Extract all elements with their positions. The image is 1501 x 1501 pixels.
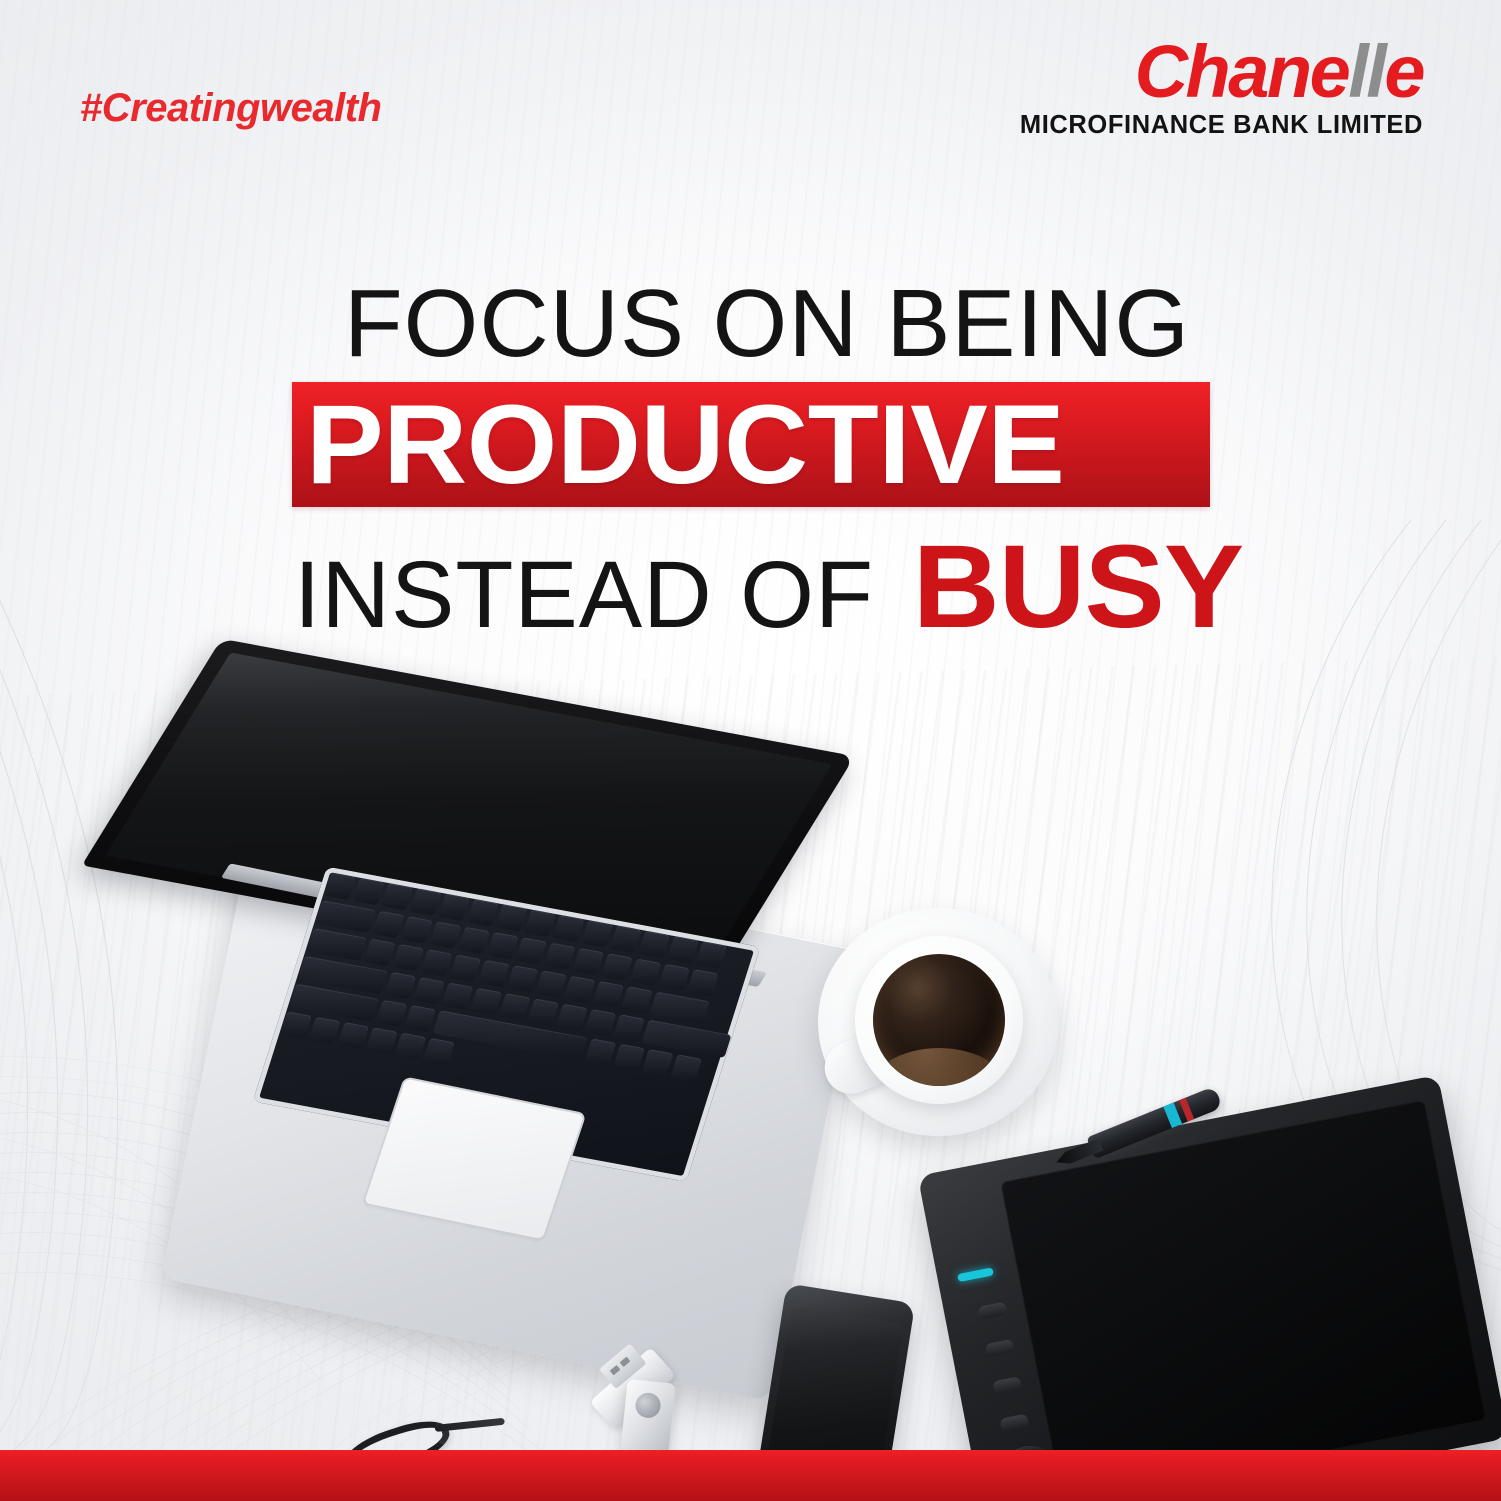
- headline-line-3-light: INSTEAD OF: [294, 541, 874, 650]
- brand-logo: Chanelle MICROFINANCE BANK LIMITED: [1020, 36, 1423, 140]
- headline-line-1: FOCUS ON BEING: [344, 276, 1501, 372]
- logo-wordmark-part2: e: [1384, 30, 1423, 113]
- footer-accent-bar: [0, 1450, 1501, 1501]
- headline-line-3: INSTEAD OF BUSY: [294, 519, 1501, 655]
- graphics-tablet-express-key-1: [978, 1302, 1008, 1320]
- headline-highlight-text: PRODUCTIVE: [306, 380, 1064, 509]
- coffee-liquid: [873, 954, 1005, 1086]
- graphics-tablet-express-key-3: [992, 1376, 1022, 1394]
- headline-line-3-bold: BUSY: [913, 519, 1243, 655]
- graphics-tablet-express-key-4: [999, 1413, 1029, 1431]
- headline-block: FOCUS ON BEING PRODUCTIVE INSTEAD OF BUS…: [0, 276, 1501, 655]
- eyeglasses-temple-arm: [435, 1418, 505, 1432]
- poster-canvas: #Creatingwealth Chanelle MICROFINANCE BA…: [0, 0, 1501, 1501]
- campaign-hashtag: #Creatingwealth: [80, 86, 381, 131]
- coffee-cup-photo: [818, 900, 1068, 1140]
- graphics-tablet-express-key-2: [985, 1339, 1015, 1357]
- logo-subtitle: MICROFINANCE BANK LIMITED: [1020, 111, 1423, 140]
- logo-wordmark: Chanelle: [1020, 36, 1423, 109]
- logo-wordmark-gray-letters: ll: [1348, 30, 1384, 113]
- graphics-tablet-led-indicator: [957, 1267, 994, 1282]
- logo-wordmark-part1: Chane: [1135, 30, 1349, 113]
- headline-highlight-band: PRODUCTIVE: [292, 382, 1210, 507]
- coffee-cup-body: [855, 936, 1023, 1104]
- coffee-foam: [873, 1048, 1005, 1086]
